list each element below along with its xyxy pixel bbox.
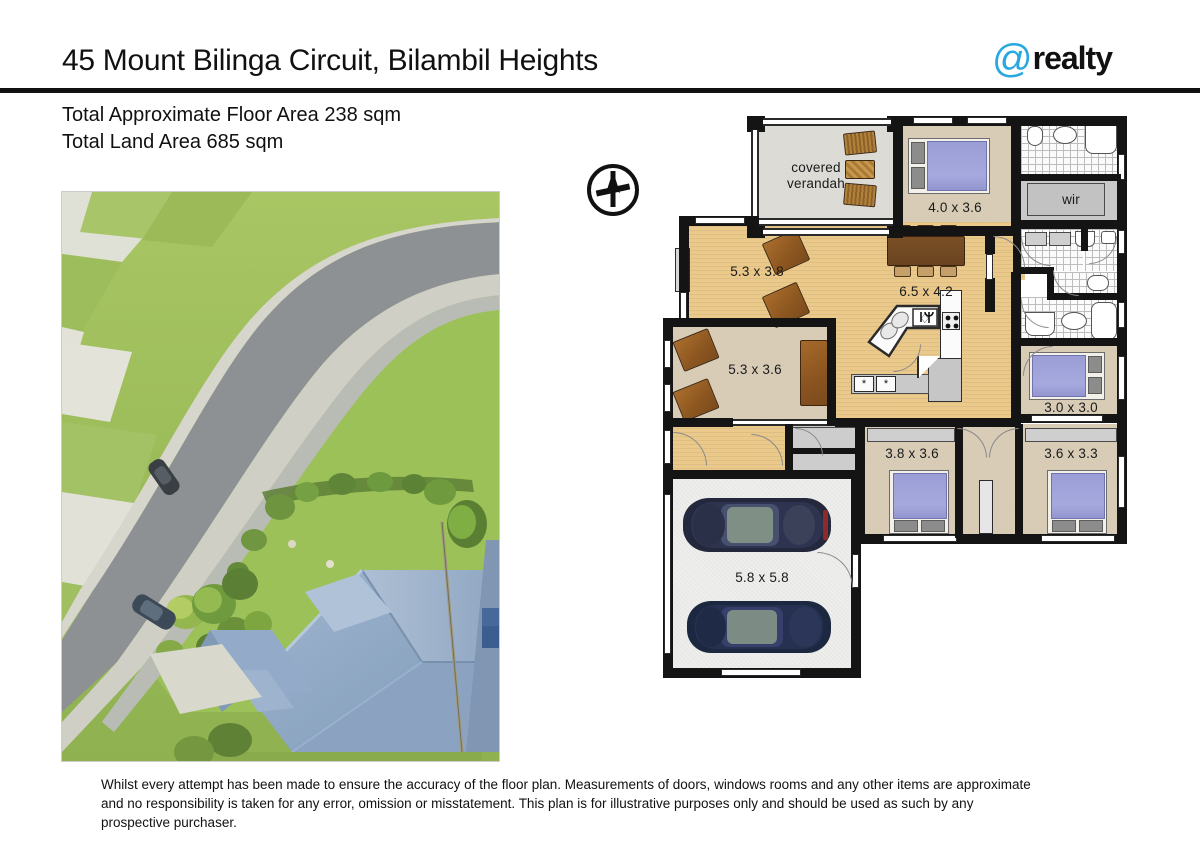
at-symbol-icon: @ [992, 39, 1032, 79]
dining-table [887, 236, 965, 266]
room-label-verandah-line2: verandah [773, 176, 859, 192]
garage-car-top [681, 494, 833, 556]
window-master-top-left [913, 117, 953, 124]
floor-plan-drawing: ♢ * * [655, 112, 1155, 772]
wc-toilet [1087, 275, 1109, 291]
window-family-left-top [664, 340, 671, 368]
bed4-pillow-left [894, 520, 918, 532]
window-bed4-bottom [883, 535, 957, 542]
master-bed-pillow-top [911, 142, 925, 164]
dining-chair-5 [917, 266, 934, 277]
bed5-robe [1025, 428, 1117, 442]
room-label-bed5: 3.6 x 3.3 [1026, 446, 1116, 461]
window-bed3-bottom [1031, 415, 1103, 422]
bed5-mattress [1051, 473, 1105, 519]
window-bed3-right [1118, 356, 1125, 400]
window-bed5-right [1118, 456, 1125, 508]
kitchen-appliance-right: * [876, 376, 896, 392]
linen-cupboard [979, 480, 993, 534]
wall-master-right [1011, 116, 1021, 236]
room-label-bed4: 3.8 x 3.6 [867, 446, 957, 461]
window-living-right [986, 254, 993, 280]
window-master-top-right [967, 117, 1007, 124]
ensuite-shower [1085, 124, 1117, 154]
wall-entry-bottom [663, 470, 861, 479]
disclaimer-text: Whilst every attempt has been made to en… [101, 775, 1041, 832]
dining-chair-6 [940, 266, 957, 277]
ensuite-toilet [1027, 126, 1043, 146]
garage-car-bottom [685, 596, 833, 658]
wall-laundry-powder-div [1081, 229, 1088, 251]
master-bed-frame [908, 138, 990, 194]
total-land-area: Total Land Area 685 sqm [62, 131, 283, 154]
bathroom-bath [1091, 302, 1117, 340]
wall-family-bottom [663, 418, 733, 427]
bed3-pillow-top [1088, 356, 1102, 373]
master-bed-pillow-bottom [911, 167, 925, 189]
verandah-chair-top [843, 130, 877, 155]
room-label-verandah-line1: covered [773, 160, 859, 176]
wall-master-bottom [893, 226, 1019, 236]
ensuite-basin [1053, 126, 1077, 144]
wall-master-left [893, 116, 903, 236]
room-label-family-room: 5.3 x 3.6 [710, 362, 800, 377]
brand-name: realty [1033, 40, 1112, 77]
verandah-left-rail [751, 130, 759, 230]
verandah-bottom-rail [763, 228, 889, 236]
laundry-bench-right [1049, 232, 1071, 246]
bed5-frame [1047, 470, 1107, 534]
bed4-mattress [893, 473, 947, 519]
room-label-master-bedroom: 4.0 x 3.6 [910, 200, 1000, 215]
wall-wir-bottom [1011, 220, 1127, 229]
bed4-frame [889, 470, 949, 534]
garage-internal-door [852, 554, 859, 588]
dining-chair-4 [894, 266, 911, 277]
realty-logo: @realty [992, 38, 1112, 78]
wall-bathroom-bottom [1013, 338, 1127, 346]
wall-wc-bottom [1047, 293, 1127, 300]
total-floor-area: Total Approximate Floor Area 238 sqm [62, 104, 401, 127]
window-lounge-top [695, 217, 745, 224]
aerial-photo [61, 191, 500, 762]
north-compass-icon: N [586, 163, 640, 217]
room-label-lounge: 5.3 x 3.8 [712, 264, 802, 279]
verandah-top-rail [763, 118, 891, 126]
family-sofa [800, 340, 828, 406]
bed4-robe [867, 428, 955, 442]
wall-dining-nook [985, 278, 995, 312]
svg-text:N: N [616, 173, 623, 183]
window-powder-right [1118, 230, 1125, 254]
wall-family-top [663, 318, 835, 327]
room-label-wir: wir [1041, 192, 1101, 207]
wall-family-right [827, 318, 836, 426]
room-label-verandah: covered verandah [773, 160, 859, 192]
master-bed-mattress [927, 141, 987, 191]
page-title: 45 Mount Bilinga Circuit, Bilambil Heigh… [62, 44, 598, 78]
window-family-left-bottom [664, 384, 671, 412]
opening-family-bottom [733, 419, 827, 426]
header-divider [0, 88, 1200, 93]
wall-living-right [1011, 272, 1021, 422]
window-bathroom-right [1118, 302, 1125, 328]
bed5-pillow-left [1052, 520, 1076, 532]
bed5-pillow-right [1079, 520, 1103, 532]
sliding-door-lounge [759, 218, 893, 226]
kitchen-cooktop-icon [942, 312, 960, 330]
kitchen-appliance-left: * [854, 376, 874, 392]
bed3-pillow-bottom [1088, 377, 1102, 394]
floor-plan-page: 45 Mount Bilinga Circuit, Bilambil Heigh… [0, 0, 1200, 848]
bed4-pillow-right [921, 520, 945, 532]
window-entry-left [664, 430, 671, 464]
room-label-garage: 5.8 x 5.8 [717, 570, 807, 585]
wall-ensuite-bottom [1021, 174, 1121, 181]
room-label-living: 6.5 x 4.2 [881, 284, 971, 299]
aerial-photo-image [62, 192, 500, 762]
room-label-bed3: 3.0 x 3.0 [1026, 400, 1116, 415]
window-bed5-bottom [1041, 535, 1115, 542]
window-garage-left [664, 494, 671, 654]
bathroom-basin [1061, 312, 1087, 330]
garage-door [721, 669, 801, 676]
kitchen-corner-bench [917, 356, 939, 378]
